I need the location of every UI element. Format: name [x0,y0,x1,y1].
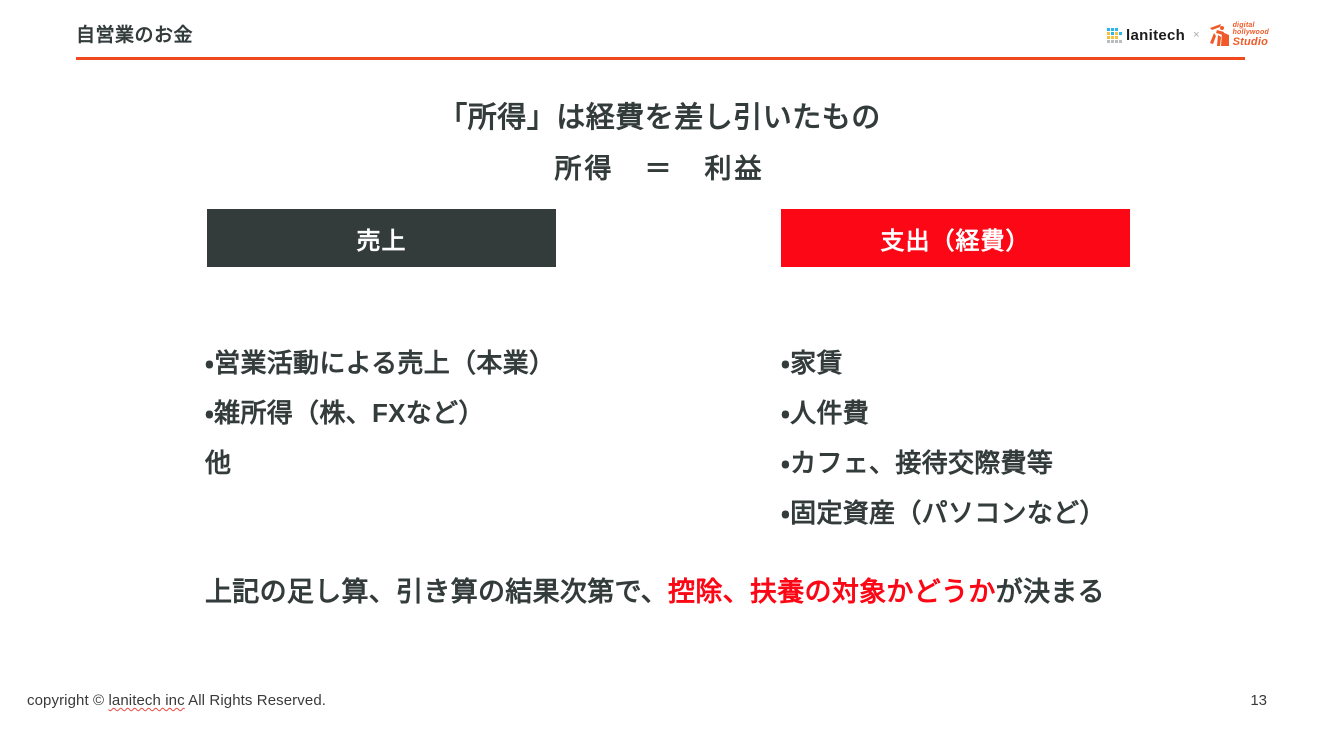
column-header-expense-label: 支出（経費） [881,221,1031,256]
copyright-prefix: copyright © [27,692,108,709]
lanitech-grid-icon [1107,28,1122,43]
dhs-line-digital: digital [1233,22,1269,29]
conclusion-statement: 上記の足し算、引き算の結果次第で、控除、扶養の対象かどうかが決まる [205,570,1105,609]
slide-subheading: 所得 ＝ 利益 [0,153,1319,187]
list-item: 他 [205,439,745,489]
copyright-suffix: All Rights Reserved. [185,692,326,709]
list-item: ・固定資産（パソコンなど） [781,489,1301,539]
column-header-sales: 売上 [207,209,556,267]
page-title: 自営業のお金 [76,20,193,47]
footer-copyright: copyright © lanitech inc All Rights Rese… [27,692,326,709]
copyright-company: lanitech inc [108,692,184,709]
slide-header: 自営業のお金 lanitech × [0,0,1319,60]
lanitech-logo: lanitech [1107,28,1185,43]
lanitech-wordmark: lanitech [1126,28,1185,43]
digital-hollywood-studio-logo: digital hollywood Studio [1208,22,1269,48]
dhs-line-studio: Studio [1233,37,1269,48]
page-number: 13 [1250,692,1267,709]
conclusion-prefix: 上記の足し算、引き算の結果次第で、 [205,577,668,607]
conclusion-highlight: 控除、扶養の対象かどうか [668,577,996,607]
expense-item-list: ・家賃 ・人件費 ・カフェ、接待交際費等 ・固定資産（パソコンなど） [781,339,1301,539]
sales-item-list: ・営業活動による売上（本業） ・雑所得（株、FXなど） 他 [205,339,745,489]
dhs-line-hollywood: hollywood [1233,29,1269,36]
header-logo-group: lanitech × digital hollywood Studio [1107,22,1269,48]
list-item: ・カフェ、接待交際費等 [781,439,1301,489]
header-divider-rule [76,57,1245,60]
column-header-sales-label: 売上 [357,221,407,256]
title-block: 「所得」は経費を差し引いたもの 所得 ＝ 利益 [0,100,1319,187]
logo-separator-x: × [1192,30,1200,41]
conclusion-suffix: が決まる [996,577,1105,607]
slide-canvas: 自営業のお金 lanitech × [0,0,1319,742]
list-item: ・家賃 [781,339,1301,389]
list-item: ・人件費 [781,389,1301,439]
list-item: ・営業活動による売上（本業） [205,339,745,389]
list-item: ・雑所得（株、FXなど） [205,389,745,439]
column-header-expense: 支出（経費） [781,209,1130,267]
dhs-runner-icon [1208,22,1230,48]
slide-heading: 「所得」は経費を差し引いたもの [0,100,1319,136]
